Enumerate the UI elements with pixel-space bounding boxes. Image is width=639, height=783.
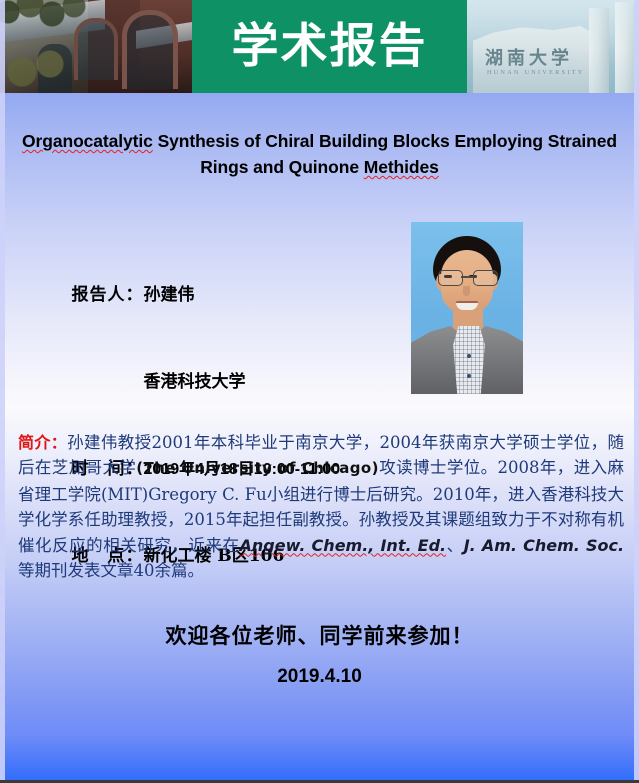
affiliation-indent bbox=[72, 372, 144, 392]
portrait-lens-right bbox=[473, 270, 498, 286]
banner-title-block: 学术报告 bbox=[192, 0, 467, 93]
bio-university-of-chicago: (The University of Chicago) bbox=[136, 459, 379, 477]
bio-journal-angew-chem: Angew. Chem., Int. Ed. bbox=[240, 536, 447, 555]
portrait-smile bbox=[456, 301, 478, 310]
bio-journal-jacs: J. Am. Chem. Soc. bbox=[464, 536, 624, 555]
tree-foliage-bottom bbox=[6, 50, 76, 93]
talk-title: Organocatalytic Synthesis of Chiral Buil… bbox=[14, 128, 625, 180]
bio-journal-separator: 、 bbox=[446, 536, 464, 555]
campus-building-photo bbox=[0, 0, 192, 93]
monument-photo-haze bbox=[467, 0, 639, 93]
talk-title-line2-start: Rings and Quinone bbox=[200, 157, 363, 177]
welcome-message: 欢迎各位老师、同学前来参加！ bbox=[0, 620, 639, 650]
talk-title-word-methides: Methides bbox=[364, 157, 439, 177]
portrait-glasses bbox=[437, 270, 497, 285]
detail-row-speaker: 报告人：孙建伟 bbox=[36, 252, 340, 339]
building-arch-right bbox=[122, 10, 178, 89]
seminar-poster: 学术报告 湖南大学 HUNAN UNIVERSITY Organocatalyt… bbox=[0, 0, 639, 783]
talk-title-word-organocatalytic: Organocatalytic bbox=[22, 131, 153, 151]
portrait-nose bbox=[463, 286, 470, 296]
portrait-lens-left bbox=[438, 270, 463, 286]
poster-header-band: 学术报告 湖南大学 HUNAN UNIVERSITY bbox=[0, 0, 639, 93]
speaker-biography: 简介：孙建伟教授2001年本科毕业于南京大学，2004年获南京大学硕士学位，随后… bbox=[18, 430, 624, 583]
detail-row-affiliation: 香港科技大学 bbox=[36, 339, 340, 426]
bio-segment-6: 等期刊发表文章40余篇。 bbox=[18, 561, 204, 580]
banner-title: 学术报告 bbox=[232, 23, 428, 70]
announcement-date: 2019.4.10 bbox=[0, 666, 639, 688]
bio-label: 简介： bbox=[18, 433, 67, 452]
tree-foliage-top bbox=[0, 0, 86, 42]
talk-title-line1-rest: Synthesis of Chiral Building Blocks Empl… bbox=[153, 131, 617, 151]
portrait-shirt-button-bottom bbox=[467, 374, 471, 378]
speaker-affiliation: 香港科技大学 bbox=[144, 372, 246, 392]
speaker-label: 报告人： bbox=[72, 285, 144, 305]
portrait-glasses-bridge bbox=[461, 276, 473, 278]
speaker-portrait bbox=[411, 222, 523, 394]
portrait-shirt-button-top bbox=[467, 354, 471, 358]
speaker-name: 孙建伟 bbox=[144, 285, 195, 305]
hunan-university-monument-photo: 湖南大学 HUNAN UNIVERSITY bbox=[467, 0, 639, 93]
bio-mit-gregory-fu: (MIT)Gregory C. Fu bbox=[101, 485, 267, 504]
